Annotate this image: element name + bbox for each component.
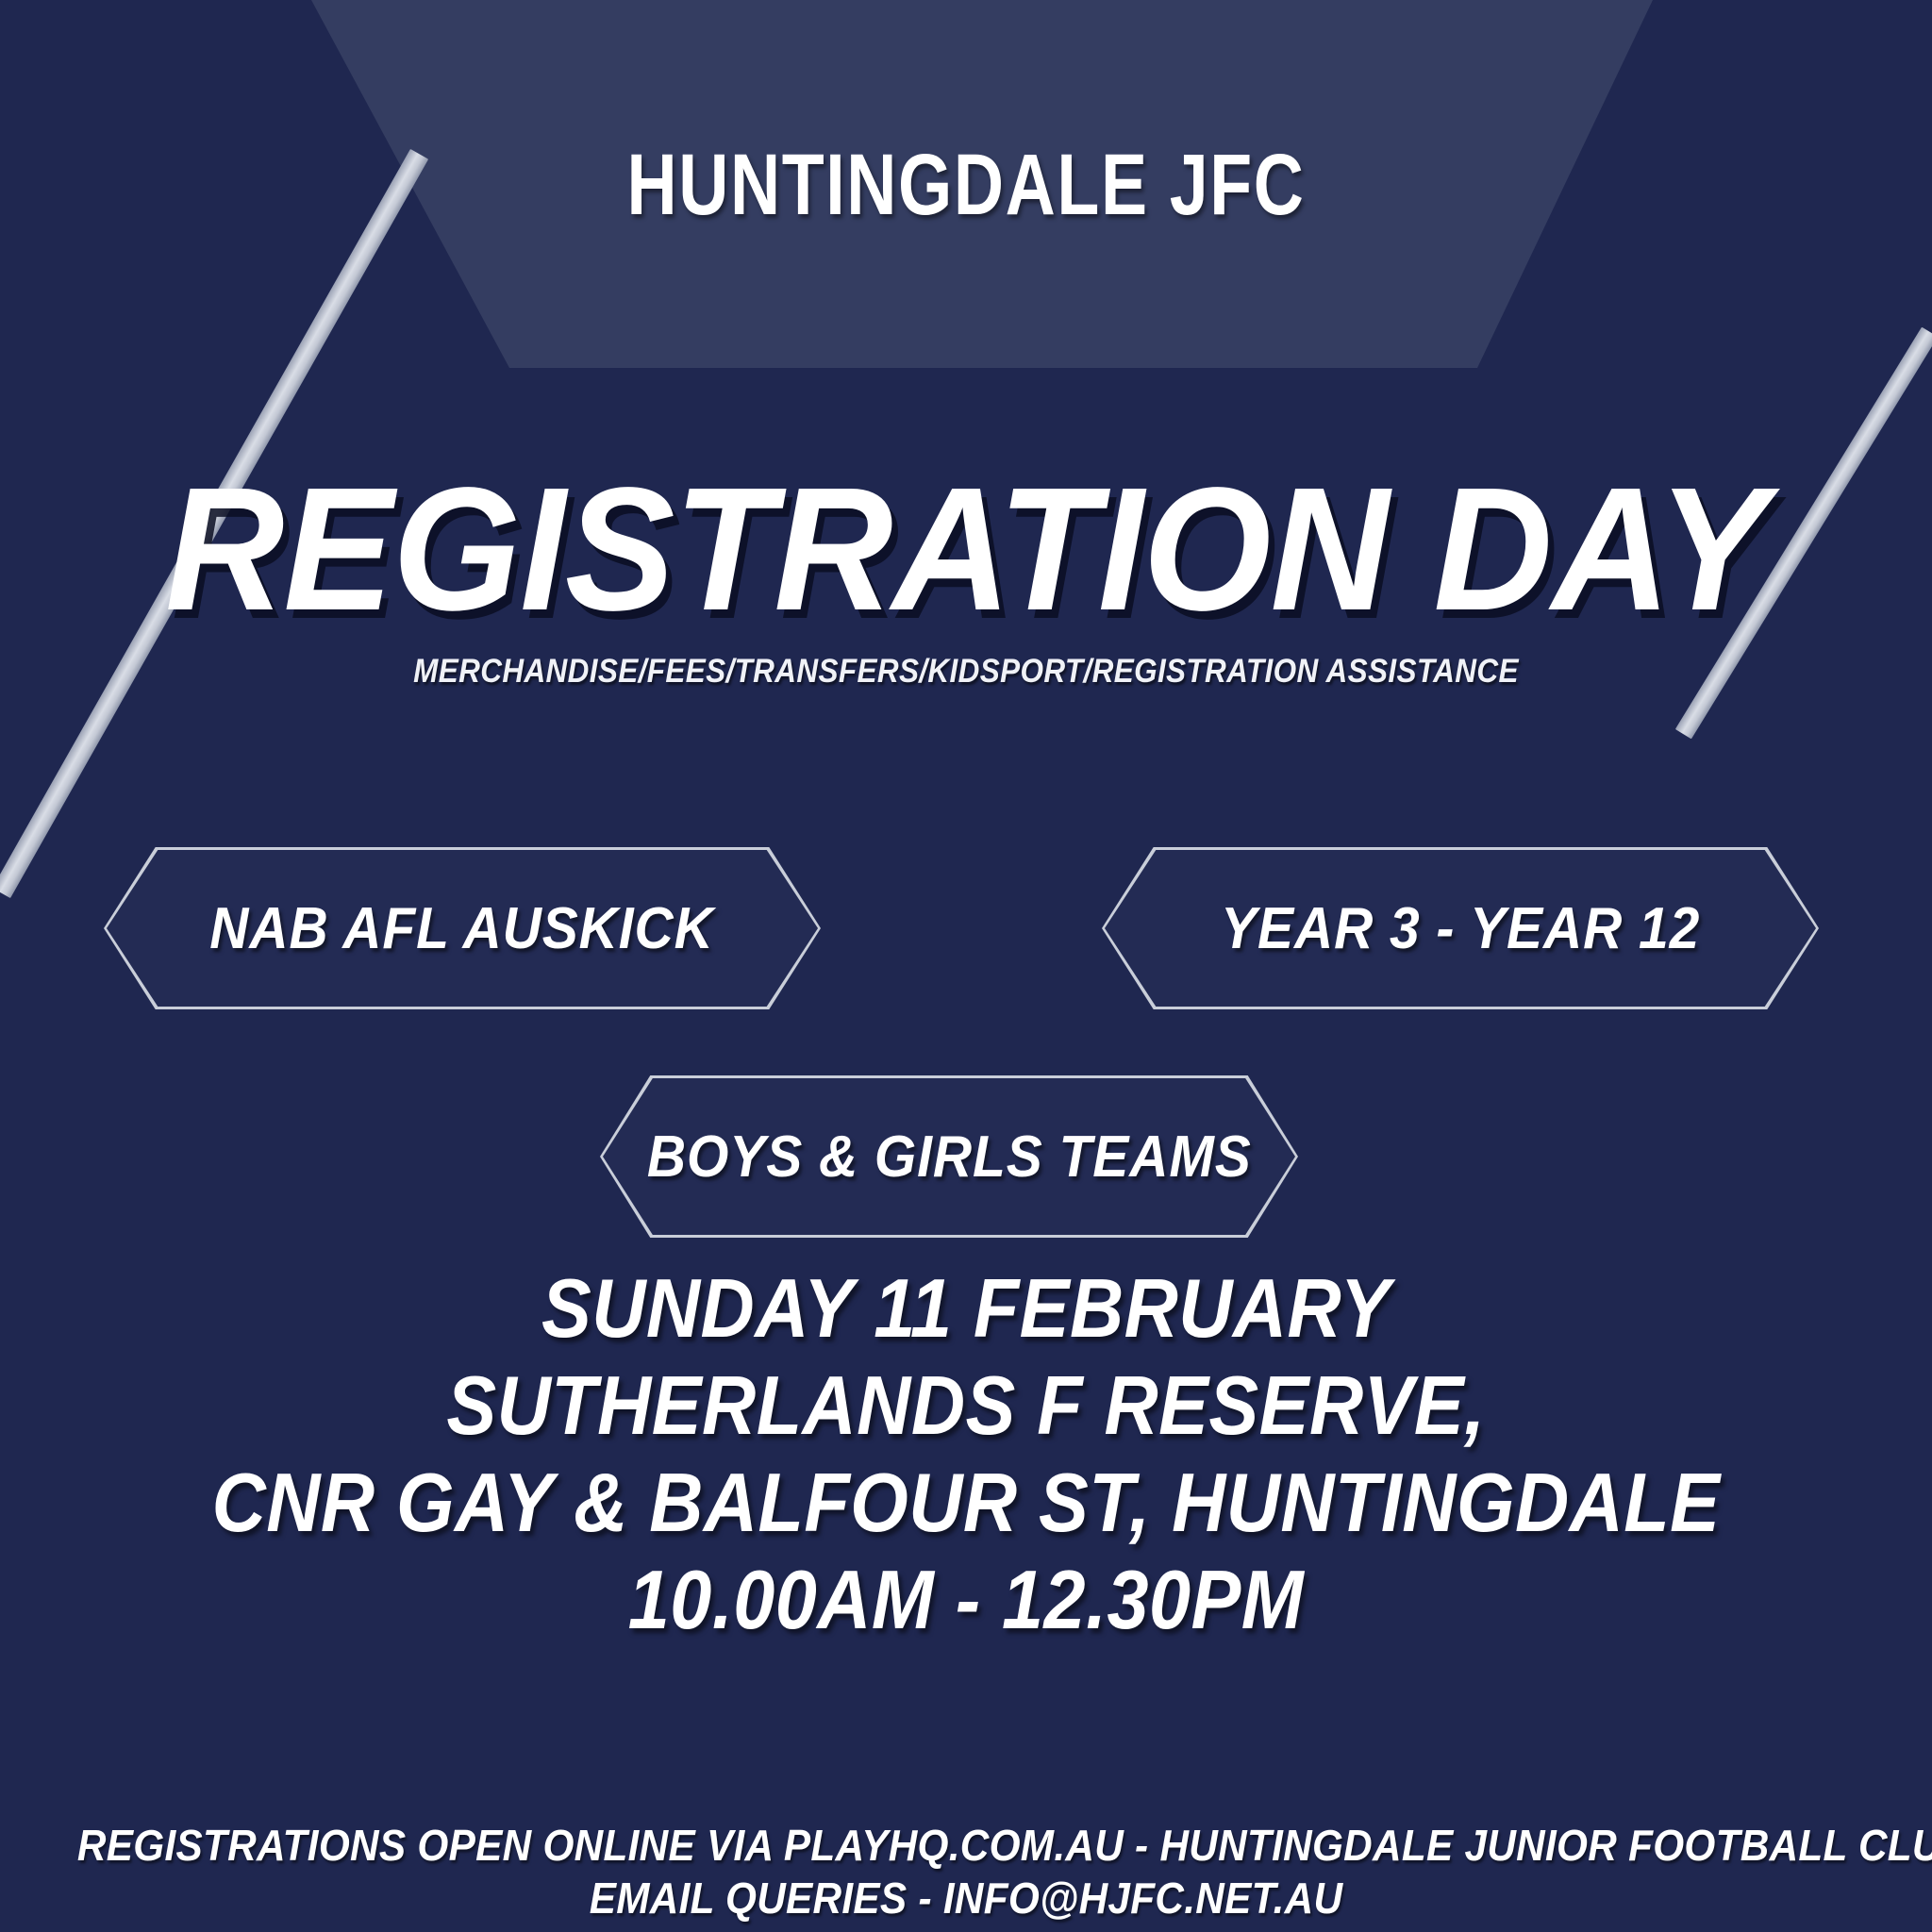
- title-block: REGISTRATION DAY MERCHANDISE/FEES/TRANSF…: [0, 462, 1932, 691]
- registration-day-poster: HUNTINGDALE JFC REGISTRATION DAY MERCHAN…: [0, 0, 1932, 1932]
- footer-registration-info: REGISTRATIONS OPEN ONLINE VIA PLAYHQ.COM…: [77, 1819, 1855, 1872]
- badge-nab-afl-auskick: NAB AFL AUSKICK: [104, 847, 821, 1009]
- badge-label: NAB AFL AUSKICK: [210, 895, 715, 962]
- services-subtitle: MERCHANDISE/FEES/TRANSFERS/KIDSPORT/REGI…: [96, 653, 1835, 691]
- event-venue: SUTHERLANDS F RESERVE,: [96, 1357, 1835, 1455]
- badge-year-range: YEAR 3 - YEAR 12: [1102, 847, 1819, 1009]
- page-title: REGISTRATION DAY: [58, 462, 1874, 638]
- poster-content: HUNTINGDALE JFC REGISTRATION DAY MERCHAN…: [0, 0, 1932, 1932]
- footer-email-info: EMAIL QUERIES - INFO@HJFC.NET.AU: [77, 1872, 1855, 1924]
- badge-label: YEAR 3 - YEAR 12: [1221, 895, 1700, 962]
- event-date: SUNDAY 11 FEBRUARY: [96, 1260, 1835, 1357]
- event-time: 10.00AM - 12.30PM: [96, 1552, 1835, 1649]
- badge-label: BOYS & GIRLS TEAMS: [647, 1124, 1252, 1191]
- event-address: CNR GAY & BALFOUR ST, HUNTINGDALE: [96, 1455, 1835, 1552]
- club-name-heading: HUNTINGDALE JFC: [193, 142, 1739, 228]
- footer-block: REGISTRATIONS OPEN ONLINE VIA PLAYHQ.COM…: [0, 1819, 1932, 1924]
- badge-boys-girls-teams: BOYS & GIRLS TEAMS: [600, 1075, 1298, 1238]
- event-details-block: SUNDAY 11 FEBRUARY SUTHERLANDS F RESERVE…: [0, 1260, 1932, 1649]
